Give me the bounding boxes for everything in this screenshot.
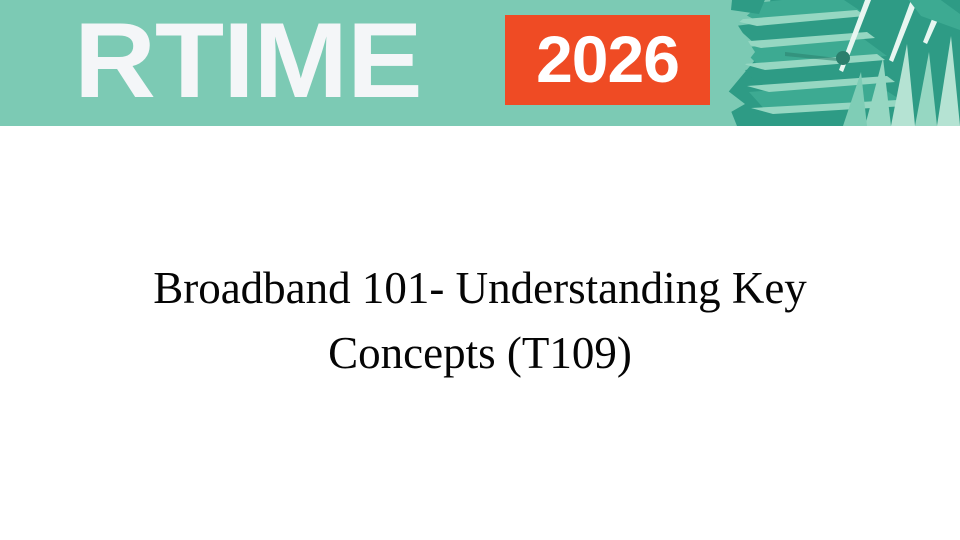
- accent-dot-stem: [785, 52, 837, 61]
- grass-blade-4: [937, 36, 960, 126]
- leaf-stem-streak-1: [839, 0, 871, 72]
- leaf-stem-streak-3: [923, 0, 947, 44]
- upper-leaf-flare: [901, 0, 960, 30]
- rtime-wordmark: RTIME: [74, 7, 422, 114]
- grass-blade-3: [915, 52, 937, 126]
- slide-canvas: RTIME 2026 Broadband 101- Understanding …: [0, 0, 960, 540]
- leaf-vein-4: [747, 76, 895, 92]
- upper-leaf-flare-2: [927, 0, 960, 14]
- year-badge-label: 2026: [505, 14, 710, 104]
- header-banner: RTIME 2026: [0, 0, 960, 126]
- leaf-vein-5: [751, 100, 905, 114]
- slide-body: Broadband 101- Understanding Key Concept…: [0, 126, 960, 540]
- grass-blade-1: [865, 58, 891, 126]
- rtime-logo-lockup: RTIME 2026: [0, 0, 760, 126]
- palm-leaflet-4: [745, 58, 897, 90]
- grass-blade-2: [891, 44, 915, 126]
- year-badge: 2026: [505, 15, 710, 105]
- palm-leaflet-5: [749, 82, 907, 112]
- slide-title: Broadband 101- Understanding Key Concept…: [60, 256, 900, 386]
- leaf-stem-streak-2: [889, 0, 917, 62]
- palm-leaflet-6: [753, 106, 915, 126]
- grass-blade-5: [843, 72, 867, 126]
- palm-leaflet-3: [741, 34, 887, 66]
- leaf-backdrop-shape: [725, 0, 960, 126]
- leaf-vein-3: [743, 54, 885, 70]
- accent-dot: [836, 51, 850, 65]
